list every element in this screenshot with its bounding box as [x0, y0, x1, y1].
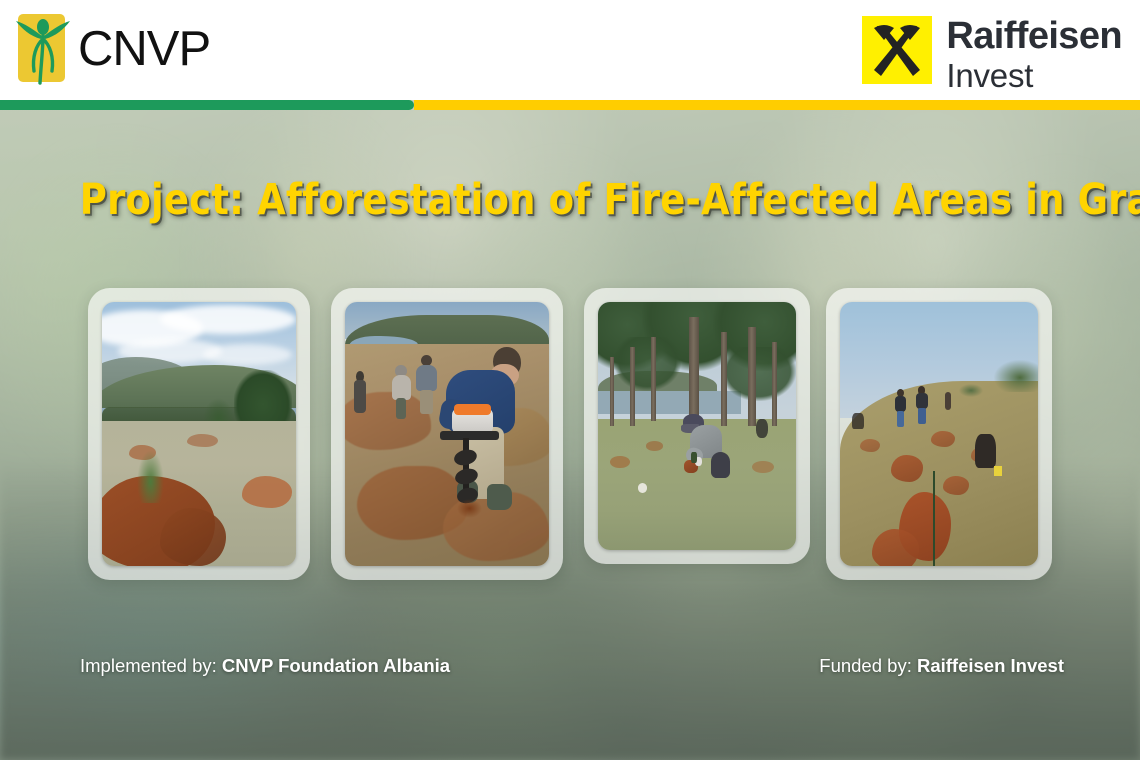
cnvp-logo: CNVP	[12, 9, 210, 87]
surveyor-on-ridge	[915, 386, 929, 423]
credits-row: Implemented by: CNVP Foundation Albania …	[0, 655, 1140, 687]
photo-frame-4[interactable]	[826, 288, 1052, 580]
surveyor-on-ridge	[893, 389, 907, 426]
photo-4	[840, 302, 1038, 566]
funding-organization: Raiffeisen Invest	[917, 655, 1064, 676]
header-bar: CNVP Raiffeisen Invest	[0, 0, 1140, 100]
implemented-by-credit: Implemented by: CNVP Foundation Albania	[80, 655, 450, 677]
raiffeisen-gable-cross-icon	[862, 16, 932, 84]
photo-1	[102, 302, 296, 566]
photo-3	[598, 302, 796, 550]
cnvp-sprout-icon	[12, 9, 74, 87]
funded-by-label: Funded by:	[819, 655, 917, 676]
raiffeisen-logo: Raiffeisen Invest	[862, 16, 1122, 92]
cnvp-wordmark: CNVP	[78, 25, 210, 74]
worker-with-auger	[435, 347, 529, 537]
photo-frame-2[interactable]	[331, 288, 563, 580]
background-worker	[353, 371, 367, 413]
implementing-organization: CNVP Foundation Albania	[222, 655, 450, 676]
kneeling-planter	[681, 414, 732, 488]
photo-frame-1[interactable]	[88, 288, 310, 580]
background-worker	[390, 365, 412, 418]
implemented-by-label: Implemented by:	[80, 655, 222, 676]
brand-divider-rule	[0, 100, 1140, 110]
funded-by-credit: Funded by: Raiffeisen Invest	[819, 655, 1064, 677]
page-title: Project: Afforestation of Fire-Affected …	[80, 175, 1060, 225]
photo-gallery	[0, 288, 1140, 584]
distant-worker	[945, 392, 951, 410]
raiffeisen-wordmark: Raiffeisen	[946, 17, 1122, 55]
raiffeisen-subbrand: Invest	[946, 59, 1122, 92]
photo-frame-3[interactable]	[584, 288, 810, 564]
photo-2	[345, 302, 549, 566]
divider-yellow-segment	[414, 100, 1140, 110]
divider-green-segment	[0, 100, 414, 110]
project-poster: CNVP Raiffeisen Invest	[0, 0, 1140, 760]
